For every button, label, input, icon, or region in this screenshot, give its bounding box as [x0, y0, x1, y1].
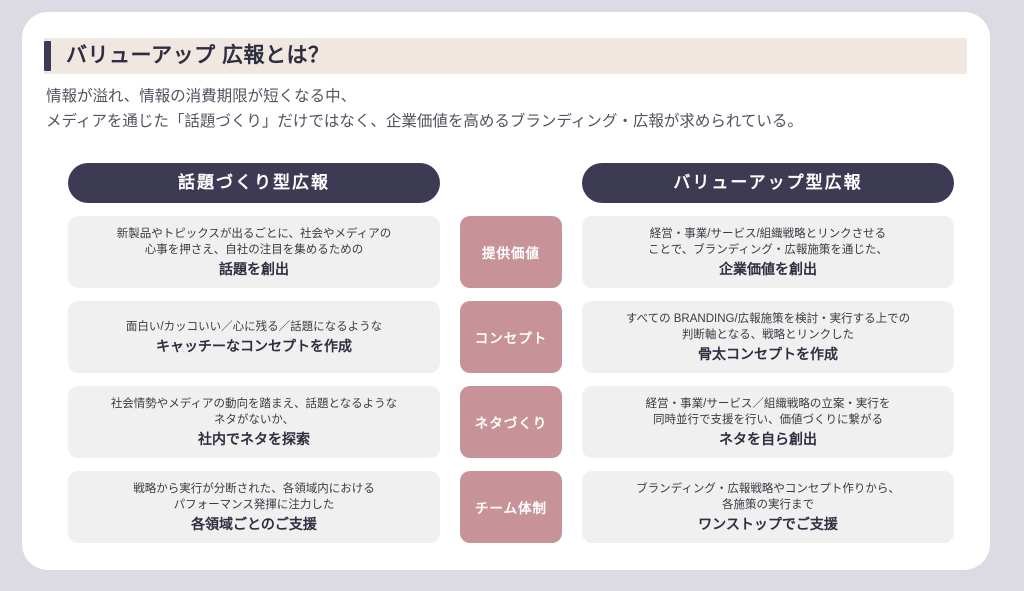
cell-body-line: 新製品やトピックスが出るごとに、社会やメディアの: [117, 226, 392, 242]
cell-right: すべての BRANDING/広報施策を検討・実行する上での 判断軸となる、戦略と…: [582, 301, 954, 373]
cell-right: 経営・事業/サービス/組織戦略とリンクさせる ことで、ブランディング・広報施策を…: [582, 216, 954, 288]
cell-body-line: 判断軸となる、戦略とリンクした: [682, 327, 854, 343]
cell-body-line: 同時並行で支援を行い、価値づくりに繋がる: [653, 412, 883, 428]
header-accent-bar: [44, 41, 51, 71]
table-row: 社会情勢やメディアの動向を踏まえ、話題となるような ネタがないか、 社内でネタを…: [68, 386, 954, 458]
row-badge: コンセプト: [460, 301, 562, 373]
cell-body-line: 社会情勢やメディアの動向を踏まえ、話題となるような: [111, 396, 397, 412]
column-heading-right: バリューアップ型広報: [582, 163, 954, 203]
table-row: 面白い/カッコいい／心に残る／話題になるような キャッチーなコンセプトを作成 コ…: [68, 301, 954, 373]
cell-lead-line: ワンストップでご支援: [698, 514, 838, 534]
cell-body-line: ことで、ブランディング・広報施策を通じた、: [648, 242, 888, 258]
cell-body-line: 心事を押さえ、自社の注目を集めるための: [145, 242, 364, 258]
lead-paragraph: 情報が溢れ、情報の消費期限が短くなる中、 メディアを通じた「話題づくり」だけでは…: [46, 84, 966, 134]
row-badge: チーム体制: [460, 471, 562, 543]
cell-left: 新製品やトピックスが出るごとに、社会やメディアの 心事を押さえ、自社の注目を集め…: [68, 216, 440, 288]
cell-body-line: すべての BRANDING/広報施策を検討・実行する上での: [626, 311, 910, 327]
cell-lead-line: ネタを自ら創出: [719, 429, 817, 449]
cell-body-line: 経営・事業/サービス／組織戦略の立案・実行を: [646, 396, 891, 412]
cell-left: 戦略から実行が分断された、各領域内における パフォーマンス発揮に注力した 各領域…: [68, 471, 440, 543]
cell-body-line: ネタがないか、: [214, 412, 294, 428]
comparison-table: 話題づくり型広報 バリューアップ型広報 新製品やトピックスが出るごとに、社会やメ…: [68, 163, 954, 556]
cell-body-line: 各施策の実行まで: [722, 497, 814, 513]
row-badge: 提供価値: [460, 216, 562, 288]
lead-line-1: 情報が溢れ、情報の消費期限が短くなる中、: [46, 84, 966, 109]
lead-line-2: メディアを通じた「話題づくり」だけではなく、企業価値を高めるブランディング・広報…: [46, 109, 966, 134]
cell-body-line: ブランディング・広報戦略やコンセプト作りから、: [636, 481, 900, 497]
table-row: 戦略から実行が分断された、各領域内における パフォーマンス発揮に注力した 各領域…: [68, 471, 954, 543]
cell-body-line: 戦略から実行が分断された、各領域内における: [133, 481, 375, 497]
cell-body-line: パフォーマンス発揮に注力した: [174, 497, 335, 513]
comparison-rows: 新製品やトピックスが出るごとに、社会やメディアの 心事を押さえ、自社の注目を集め…: [68, 216, 954, 543]
cell-lead-line: 骨太コンセプトを作成: [698, 344, 838, 364]
comparison-headings: 話題づくり型広報 バリューアップ型広報: [68, 163, 954, 203]
cell-right: 経営・事業/サービス／組織戦略の立案・実行を 同時並行で支援を行い、価値づくりに…: [582, 386, 954, 458]
column-heading-left: 話題づくり型広報: [68, 163, 440, 203]
cell-body-line: 面白い/カッコいい／心に残る／話題になるような: [126, 319, 382, 335]
cell-left: 社会情勢やメディアの動向を踏まえ、話題となるような ネタがないか、 社内でネタを…: [68, 386, 440, 458]
cell-body-line: 経営・事業/サービス/組織戦略とリンクさせる: [650, 226, 886, 242]
row-badge: ネタづくり: [460, 386, 562, 458]
cell-lead-line: 社内でネタを探索: [198, 429, 310, 449]
slide-header: バリューアップ 広報とは？: [22, 38, 967, 74]
slide-card: バリューアップ 広報とは？ 情報が溢れ、情報の消費期限が短くなる中、 メディアを…: [22, 12, 990, 570]
cell-lead-line: キャッチーなコンセプトを作成: [156, 336, 352, 356]
page-title: バリューアップ 広報とは？: [66, 38, 330, 74]
cell-left: 面白い/カッコいい／心に残る／話題になるような キャッチーなコンセプトを作成: [68, 301, 440, 373]
cell-lead-line: 企業価値を創出: [719, 259, 817, 279]
cell-right: ブランディング・広報戦略やコンセプト作りから、 各施策の実行まで ワンストップで…: [582, 471, 954, 543]
cell-lead-line: 各領域ごとのご支援: [191, 514, 317, 534]
table-row: 新製品やトピックスが出るごとに、社会やメディアの 心事を押さえ、自社の注目を集め…: [68, 216, 954, 288]
cell-lead-line: 話題を創出: [219, 259, 289, 279]
